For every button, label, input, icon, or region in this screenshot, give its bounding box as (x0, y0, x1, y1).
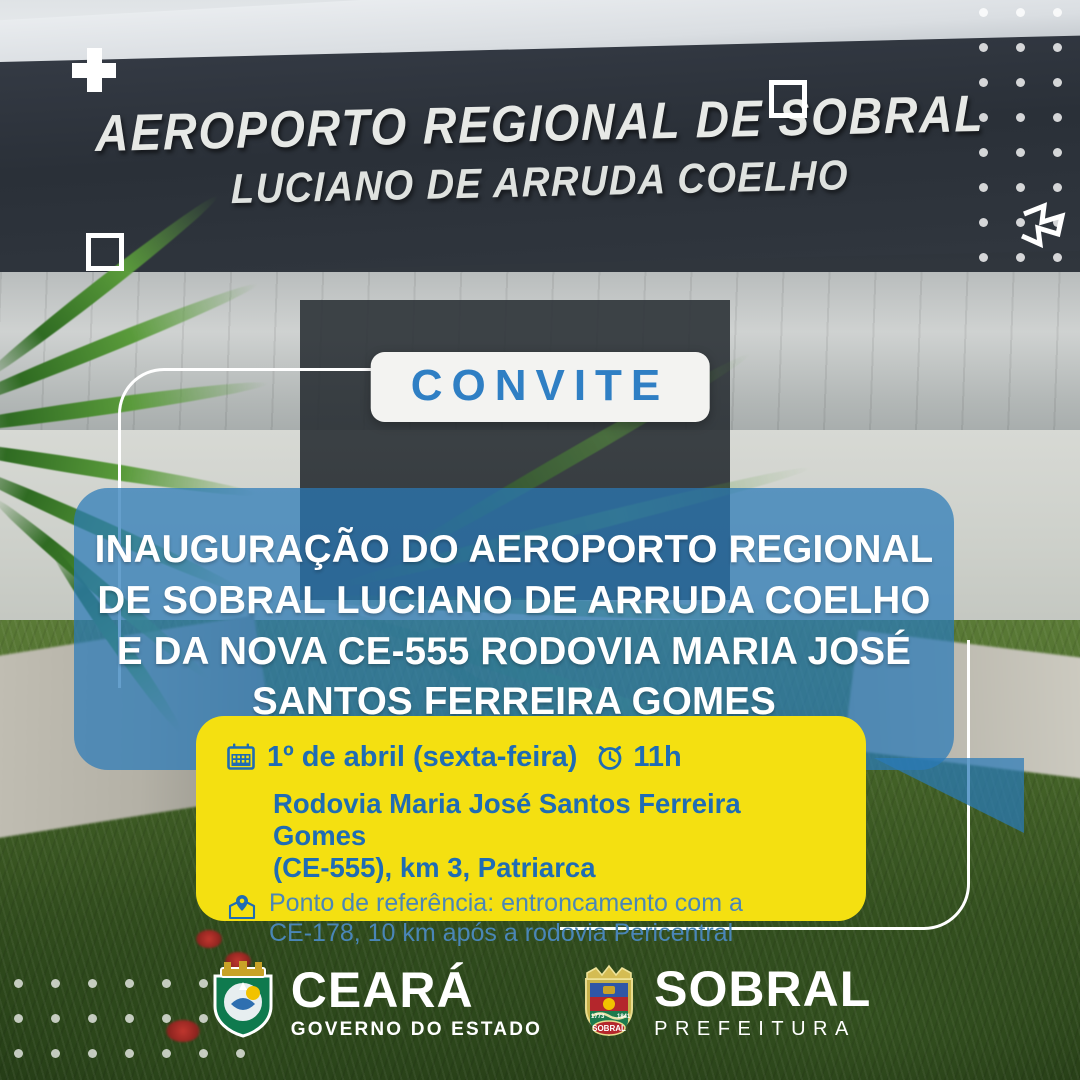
address-line-2: (CE-555), km 3, Patriarca (273, 852, 840, 884)
convite-badge: CONVITE (371, 352, 710, 422)
headline-line-2: DE SOBRAL LUCIANO DE ARRUDA COELHO (74, 576, 954, 627)
alarm-clock-icon (595, 742, 625, 772)
reference-point-row: Ponto de referência: entroncamento com a… (226, 888, 840, 948)
svg-text:1841: 1841 (617, 1014, 631, 1020)
event-address: Rodovia Maria José Santos Ferreira Gomes… (273, 788, 840, 884)
svg-text:1773: 1773 (591, 1014, 605, 1020)
headline-text: INAUGURAÇÃO DO AEROPORTO REGIONAL DE SOB… (74, 525, 954, 728)
convite-badge-label: CONVITE (411, 364, 670, 408)
ceara-logo-name: CEARÁ (291, 965, 542, 1015)
reference-point-text: Ponto de referência: entroncamento com a… (269, 888, 743, 948)
event-date: 1º de abril (sexta-feira) (267, 743, 577, 772)
logo-ceara: CEARÁ GOVERNO DO ESTADO (209, 960, 542, 1043)
footer-logos: CEARÁ GOVERNO DO ESTADO SOBRAL 1773 (0, 959, 1080, 1044)
headline-line-3: E DA NOVA CE-555 RODOVIA MARIA JOSÉ (74, 627, 954, 678)
reference-line-1: Ponto de referência: entroncamento com a (269, 889, 743, 917)
flower-1 (196, 930, 222, 948)
sobral-logo-text: SOBRAL PREFEITURA (654, 964, 871, 1039)
address-line-1: Rodovia Maria José Santos Ferreira Gomes (273, 788, 840, 852)
ceara-logo-text: CEARÁ GOVERNO DO ESTADO (291, 965, 542, 1039)
date-time-row: 1º de abril (sexta-feira) 11h (226, 742, 840, 772)
invitation-poster: AEROPORTO REGIONAL DE SOBRAL LUCIANO DE … (0, 0, 1080, 1080)
event-time: 11h (633, 743, 681, 772)
calendar-icon (226, 742, 256, 772)
dot-grid-top-right (979, 8, 1062, 262)
square-outline-icon-1 (769, 80, 807, 118)
logo-sobral: SOBRAL 1773 1841 SOBRAL PREFEITURA (578, 959, 871, 1044)
sobral-logo-name: SOBRAL (654, 964, 871, 1014)
svg-text:SOBRAL: SOBRAL (592, 1024, 626, 1033)
headline-line-1: INAUGURAÇÃO DO AEROPORTO REGIONAL (74, 525, 954, 576)
plus-icon (72, 48, 116, 92)
square-outline-icon-2 (86, 233, 124, 271)
sobral-coat-of-arms-icon: SOBRAL 1773 1841 (578, 959, 640, 1044)
reference-line-2: CE-178, 10 km após a rodovia Pericentral (269, 919, 733, 947)
ceara-coat-of-arms-icon (209, 960, 277, 1043)
ceara-logo-tagline: GOVERNO DO ESTADO (291, 1020, 542, 1039)
map-pin-icon (226, 892, 258, 922)
event-details-content: 1º de abril (sexta-feira) 11h Rodovia Ma… (196, 716, 866, 921)
sobral-logo-tagline: PREFEITURA (654, 1019, 871, 1039)
